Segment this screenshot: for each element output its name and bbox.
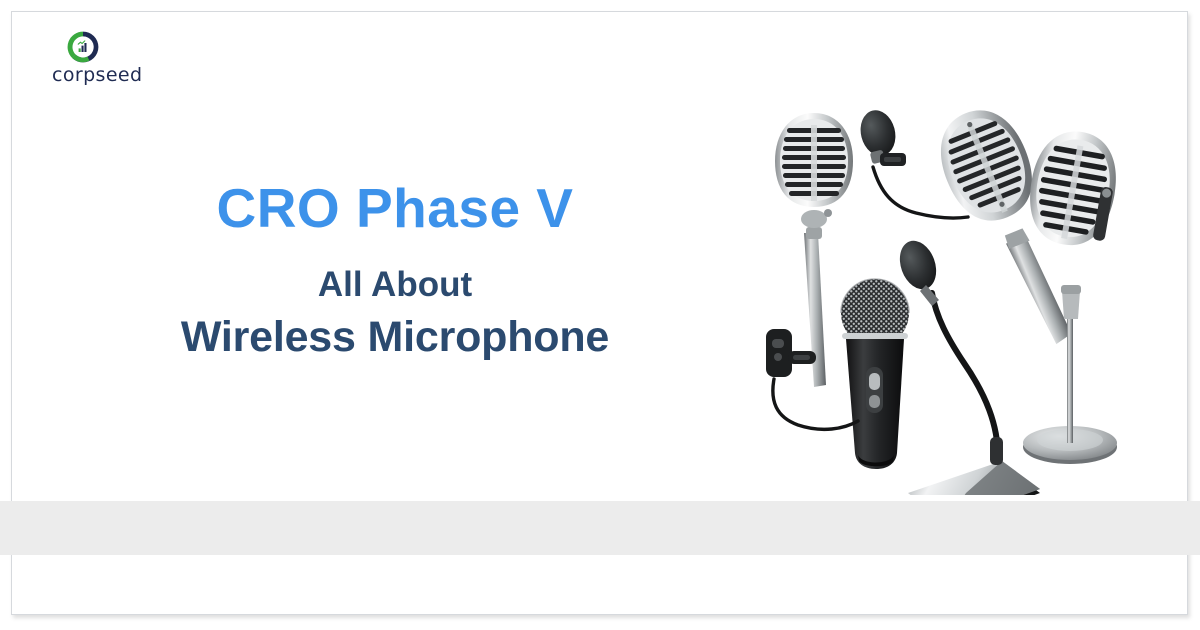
- headline-block: CRO Phase V All About Wireless Microphon…: [40, 180, 750, 362]
- brand-wordmark: corpseed: [52, 64, 142, 86]
- page-title: CRO Phase V: [40, 180, 750, 238]
- subtitle-line-1: All About: [40, 266, 750, 305]
- subtitle-line-2: Wireless Microphone: [40, 314, 750, 361]
- corpseed-circular-bar-chart-logo: [66, 30, 100, 64]
- microphone-illustration-group: [740, 95, 1140, 495]
- handheld-dynamic-microphone: [841, 279, 909, 469]
- banner-canvas: corpseed CRO Phase V All About Wireless …: [0, 0, 1200, 630]
- gooseneck-desk-microphone: [893, 236, 1040, 495]
- bottom-gray-band: [0, 501, 1200, 555]
- brand-logo[interactable]: corpseed: [52, 30, 202, 88]
